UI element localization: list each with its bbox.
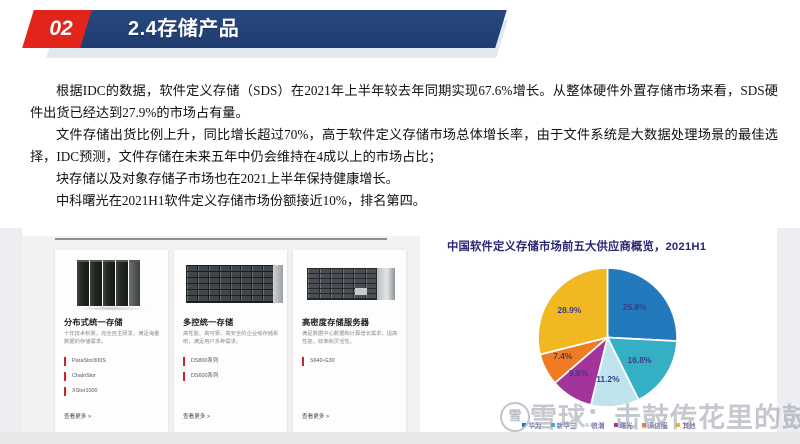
legend-label: 曙光 [620, 420, 633, 430]
body-paragraph-1: 根据IDC的数据，软件定义存储（SDS）在2021年上半年较去年同期实现67.6… [30, 80, 778, 124]
header-blue-banner [50, 10, 507, 48]
distributed-storage-rack-icon [55, 256, 168, 312]
legend-item[interactable]: 其他 [676, 420, 695, 430]
legend-swatch [614, 423, 618, 427]
product-model-item[interactable]: XStor1000 [64, 384, 164, 399]
rack-cabinets-shape [77, 260, 143, 306]
pie-slice-label: 7.4% [553, 351, 572, 361]
legend-label: 深信服 [648, 420, 668, 430]
body-paragraph-4: 中科曙光在2021H1软件定义存储市场份额接近10%，排名第四。 [30, 190, 778, 212]
legend-label: 华为 [528, 420, 541, 430]
product-card-distributed[interactable]: 分布式统一存储 十年技术积累，完全自主研发，满足海量数据的存储需求。 ParaS… [55, 250, 168, 432]
pie-chart: 25.8%16.8%11.2%9.8%7.4%28.9% [535, 265, 680, 410]
product-card-title: 分布式统一存储 [64, 316, 164, 328]
body-paragraph-2: 文件存储出货比例上升，同比增长超过70%，高于软件定义存储市场总体增长率，由于文… [30, 124, 778, 168]
product-showcase-panel: 分布式统一存储 十年技术积累，完全自主研发，满足海量数据的存储需求。 ParaS… [22, 236, 420, 440]
pie-slice-label: 16.8% [628, 355, 652, 365]
server-side-panel [377, 268, 395, 300]
legend-item[interactable]: 新华三 [551, 420, 577, 430]
product-card-title: 高密度存储服务器 [302, 316, 402, 328]
array-side-panel [273, 265, 283, 303]
disk-array-shape [186, 265, 274, 303]
pie-chart-svg [535, 265, 680, 410]
legend-item[interactable]: 浪潮 [585, 420, 604, 430]
body-paragraph-3: 块存储以及对象存储子市场也在2021上半年保持健康增长。 [30, 168, 778, 190]
chart-legend: 华为新华三浪潮曙光深信服其他 [451, 418, 767, 432]
server-led-panel [355, 288, 367, 295]
view-more-link[interactable]: 查看更多 > [183, 412, 210, 420]
legend-swatch [522, 423, 526, 427]
legend-swatch [585, 423, 589, 427]
market-share-chart-panel: 中国软件定义存储市场前五大供应商概览，2021H1 25.8%16.8%11.2… [437, 232, 777, 440]
legend-label: 浪潮 [591, 420, 604, 430]
body-text-block: 根据IDC的数据，软件定义存储（SDS）在2021年上半年较去年同期实现67.6… [30, 80, 778, 212]
panel-divider [55, 238, 387, 240]
product-card-multicontroller[interactable]: 多控统一存储 高性能、高可靠、高安全的企业级存储系统，满足用户多种需求。 DS8… [174, 250, 287, 432]
legend-label: 其他 [682, 420, 695, 430]
legend-item[interactable]: 深信服 [642, 420, 668, 430]
product-model-item[interactable]: S640-G30 [302, 354, 402, 369]
server-chassis-shape [307, 268, 377, 300]
multi-controller-array-icon [174, 256, 287, 312]
product-model-item[interactable]: ParaStor300S [64, 354, 164, 369]
section-number: 02 [38, 14, 84, 44]
product-card-description: 满足数据中心数据和计算增长需求，提高性能、效率和灵活性。 [302, 330, 399, 346]
pie-slice-label: 11.2% [596, 374, 619, 384]
slide-root: 02 2.4存储产品 根据IDC的数据，软件定义存储（SDS）在2021年上半年… [0, 0, 800, 444]
legend-item[interactable]: 曙光 [614, 420, 633, 430]
product-card-description: 高性能、高可靠、高安全的企业级存储系统，满足用户多种需求。 [183, 330, 280, 346]
pie-slice-label: 25.8% [623, 302, 647, 312]
high-density-server-icon [293, 256, 406, 312]
product-model-list: ParaStor300S ChainStor XStor1000 [64, 354, 164, 399]
slide-header: 02 2.4存储产品 [0, 0, 800, 68]
page-title: 2.4存储产品 [128, 13, 239, 45]
bottom-margin-strip [0, 432, 800, 444]
left-margin-strip [0, 228, 22, 444]
product-model-list: S640-G30 [302, 354, 402, 369]
product-card-highdensity[interactable]: 高密度存储服务器 满足数据中心数据和计算增长需求，提高性能、效率和灵活性。 S6… [293, 250, 406, 432]
product-card-description: 十年技术积累，完全自主研发，满足海量数据的存储需求。 [64, 330, 161, 346]
view-more-link[interactable]: 查看更多 > [64, 412, 91, 420]
legend-swatch [676, 423, 680, 427]
view-more-link[interactable]: 查看更多 > [302, 412, 329, 420]
product-model-list: DS800系列 DS600系列 [183, 354, 283, 384]
legend-swatch [551, 423, 555, 427]
right-margin-strip [777, 228, 800, 444]
product-model-item[interactable]: DS600系列 [183, 369, 283, 384]
product-model-item[interactable]: ChainStor [64, 369, 164, 384]
rack-shadow [75, 306, 147, 311]
legend-item[interactable]: 华为 [522, 420, 541, 430]
legend-label: 新华三 [557, 420, 577, 430]
product-model-item[interactable]: DS800系列 [183, 354, 283, 369]
pie-slice-label: 28.9% [557, 305, 581, 315]
chart-title: 中国软件定义存储市场前五大供应商概览，2021H1 [447, 238, 772, 254]
legend-swatch [642, 423, 646, 427]
pie-slice-label: 9.8% [569, 368, 588, 378]
product-card-title: 多控统一存储 [183, 316, 283, 328]
